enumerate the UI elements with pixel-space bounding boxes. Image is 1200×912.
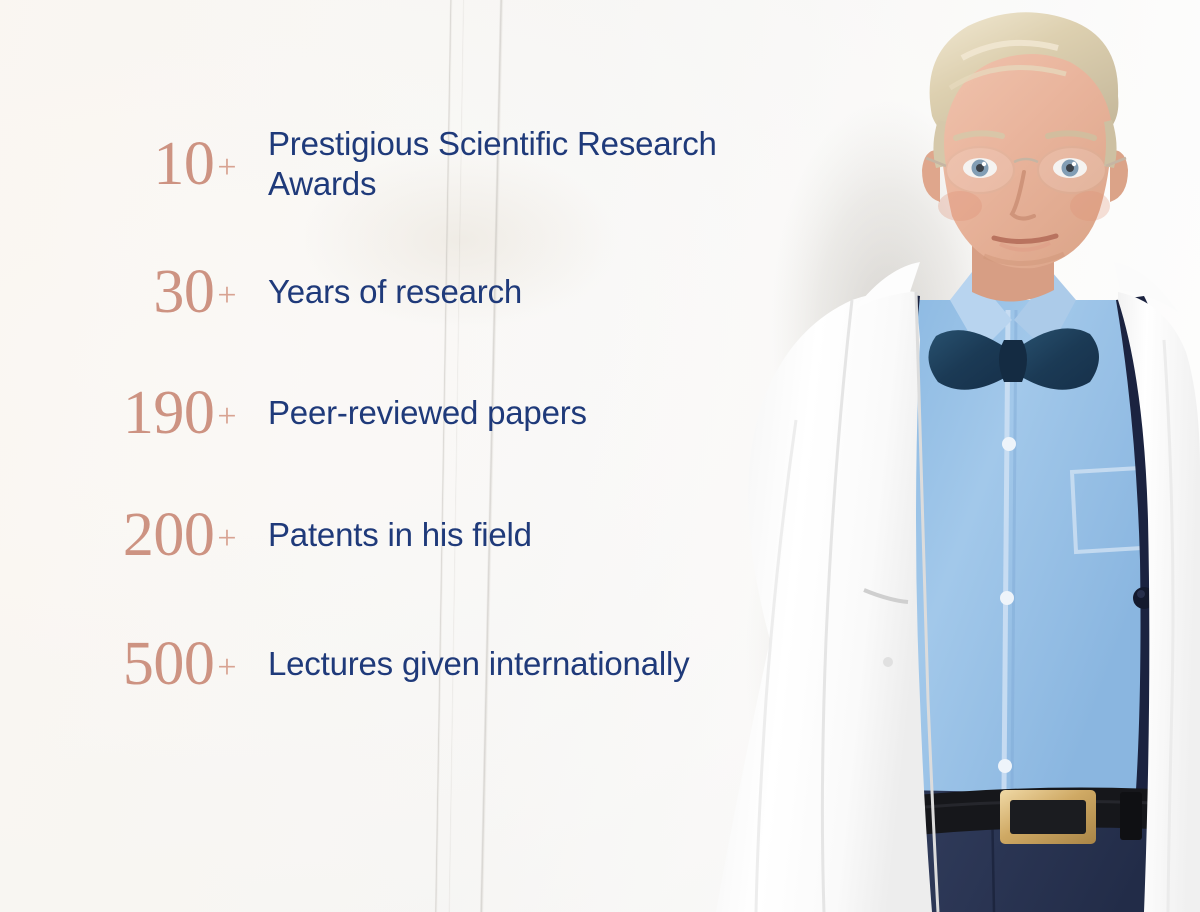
cheek-left (938, 191, 982, 221)
stat-number-value: 200 (123, 501, 215, 569)
stat-number-suffix: + (217, 149, 236, 186)
bowtie-knot (999, 340, 1027, 382)
stat-number: 10+ (0, 133, 238, 195)
glasses-lens-left (946, 147, 1014, 193)
stat-number-value: 190 (123, 379, 215, 447)
stat-number-value: 500 (123, 630, 215, 698)
stat-row: 10+ Prestigious Scientific Research Awar… (0, 96, 740, 232)
shirt-button (998, 759, 1012, 773)
shirt-button (1002, 437, 1016, 451)
stats-list: 10+ Prestigious Scientific Research Awar… (0, 96, 740, 732)
stat-row: 500+ Lectures given internationally (0, 596, 740, 732)
stat-number-suffix: + (217, 277, 236, 314)
shirt-button (1000, 591, 1014, 605)
stat-number-suffix: + (217, 649, 236, 686)
stat-number-value: 10 (153, 130, 214, 198)
stat-number: 500+ (0, 633, 238, 695)
stat-row: 30+ Years of research (0, 232, 740, 352)
belt-keeper (1120, 792, 1142, 840)
belt-buckle-inner (1010, 800, 1086, 834)
stat-number-suffix: + (217, 398, 236, 435)
stat-label: Patents in his field (238, 515, 532, 555)
stat-number-value: 30 (153, 258, 214, 326)
stat-label: Lectures given internationally (238, 644, 689, 684)
vest-button-highlight (1137, 590, 1145, 598)
stat-panel-root: 10+ Prestigious Scientific Research Awar… (0, 0, 1200, 912)
stat-number: 190+ (0, 382, 238, 444)
stat-label: Peer-reviewed papers (238, 393, 587, 433)
stat-row: 190+ Peer-reviewed papers (0, 352, 740, 474)
stat-label: Prestigious Scientific Research Awards (238, 124, 738, 205)
cheek-right (1070, 191, 1110, 221)
glasses-lens-right (1038, 147, 1106, 193)
stat-number-suffix: + (217, 520, 236, 557)
stat-number: 200+ (0, 504, 238, 566)
stat-number: 30+ (0, 261, 238, 323)
lab-coat-button-left (883, 657, 893, 667)
stat-row: 200+ Patents in his field (0, 474, 740, 596)
stat-label: Years of research (238, 272, 522, 312)
